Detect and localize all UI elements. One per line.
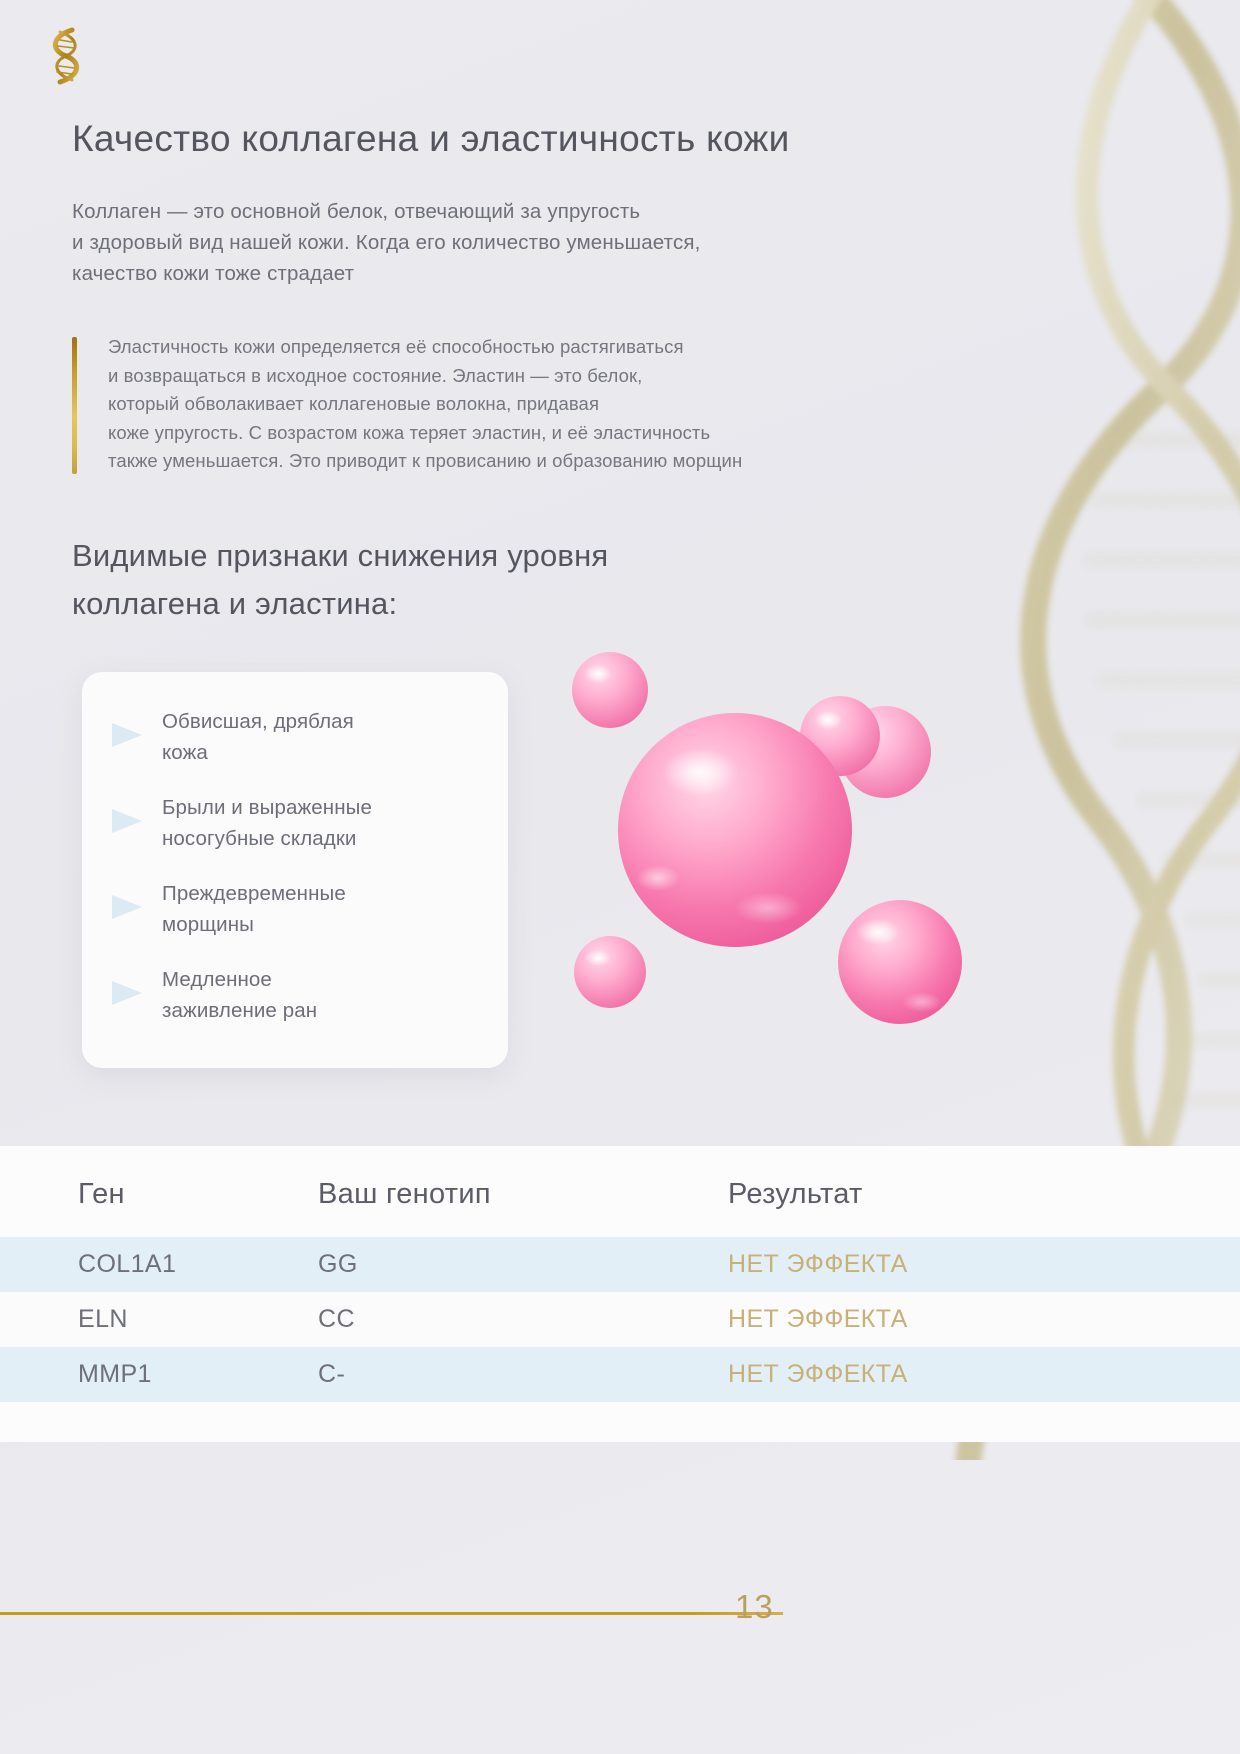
cell-gene: COL1A1 bbox=[0, 1237, 310, 1292]
cell-result: НЕТ ЭФФЕКТА bbox=[716, 1292, 1240, 1347]
section-heading: Видимые признаки снижения уровня коллаге… bbox=[72, 532, 892, 628]
sign-2-line-2: носогубные складки bbox=[162, 827, 356, 850]
cell-result: НЕТ ЭФФЕКТА bbox=[716, 1237, 1240, 1292]
callout-text: Эластичность кожи определяется её способ… bbox=[108, 333, 952, 476]
list-item-label: Преждевременные морщины bbox=[162, 878, 346, 940]
cell-gene: MMP1 bbox=[0, 1347, 310, 1402]
section-heading-line-1: Видимые признаки снижения уровня bbox=[72, 532, 892, 580]
cell-result: НЕТ ЭФФЕКТА bbox=[716, 1347, 1240, 1402]
visible-signs-card: Обвисшая, дряблая кожа Брыли и выраженны… bbox=[82, 672, 508, 1068]
list-item-label: Медленное заживление ран bbox=[162, 964, 317, 1026]
sign-3-line-2: морщины bbox=[162, 913, 254, 936]
list-item: Брыли и выраженные носогубные складки bbox=[108, 792, 482, 854]
genotype-results-section: Ген Ваш генотип Результат COL1A1 GG НЕТ … bbox=[0, 1146, 1240, 1442]
cell-genotype: C- bbox=[310, 1347, 716, 1402]
genotype-results-table: Ген Ваш генотип Результат COL1A1 GG НЕТ … bbox=[0, 1172, 1240, 1402]
elasticity-callout: Эластичность кожи определяется её способ… bbox=[72, 333, 952, 476]
sign-4-line-1: Медленное bbox=[162, 968, 272, 991]
sign-2-line-1: Брыли и выраженные bbox=[162, 796, 372, 819]
cell-genotype: CC bbox=[310, 1292, 716, 1347]
triangle-right-icon bbox=[108, 978, 146, 1008]
intro-line-1: Коллаген — это основной белок, отвечающи… bbox=[72, 196, 972, 227]
callout-line-5: также уменьшается. Это приводит к провис… bbox=[108, 447, 952, 476]
sign-4-line-2: заживление ран bbox=[162, 999, 317, 1022]
page-footer: 13 bbox=[0, 1478, 1240, 1754]
intro-line-3: качество кожи тоже страдает bbox=[72, 258, 972, 289]
sign-1-line-2: кожа bbox=[162, 741, 208, 764]
table-header-row: Ген Ваш генотип Результат bbox=[0, 1172, 1240, 1237]
intro-paragraph: Коллаген — это основной белок, отвечающи… bbox=[72, 196, 972, 289]
page-number: 13 bbox=[735, 1588, 774, 1626]
list-item: Медленное заживление ран bbox=[108, 964, 482, 1026]
list-item: Обвисшая, дряблая кожа bbox=[108, 706, 482, 768]
dna-helix-icon bbox=[36, 24, 96, 86]
table-row: MMP1 C- НЕТ ЭФФЕКТА bbox=[0, 1347, 1240, 1402]
report-page: Качество коллагена и эластичность кожи К… bbox=[0, 0, 1240, 1754]
callout-line-4: коже упругость. С возрастом кожа теряет … bbox=[108, 419, 952, 448]
callout-line-1: Эластичность кожи определяется её способ… bbox=[108, 333, 952, 362]
table-row: COL1A1 GG НЕТ ЭФФЕКТА bbox=[0, 1237, 1240, 1292]
page-title: Качество коллагена и эластичность кожи bbox=[72, 118, 972, 160]
column-header-gene: Ген bbox=[0, 1172, 310, 1237]
footer-divider bbox=[0, 1612, 783, 1615]
table-row: ELN CC НЕТ ЭФФЕКТА bbox=[0, 1292, 1240, 1347]
column-header-genotype: Ваш генотип bbox=[310, 1172, 716, 1237]
triangle-right-icon bbox=[108, 720, 146, 750]
callout-accent-bar bbox=[72, 337, 77, 474]
serum-bubbles-illustration bbox=[540, 640, 1060, 1110]
triangle-right-icon bbox=[108, 806, 146, 836]
cell-gene: ELN bbox=[0, 1292, 310, 1347]
column-header-result: Результат bbox=[716, 1172, 1240, 1237]
cell-genotype: GG bbox=[310, 1237, 716, 1292]
intro-line-2: и здоровый вид нашей кожи. Когда его кол… bbox=[72, 227, 972, 258]
callout-line-2: и возвращаться в исходное состояние. Эла… bbox=[108, 362, 952, 391]
list-item-label: Обвисшая, дряблая кожа bbox=[162, 706, 354, 768]
sign-1-line-1: Обвисшая, дряблая bbox=[162, 710, 354, 733]
section-heading-line-2: коллагена и эластина: bbox=[72, 580, 892, 628]
callout-line-3: который обволакивает коллагеновые волокн… bbox=[108, 390, 952, 419]
sign-3-line-1: Преждевременные bbox=[162, 882, 346, 905]
triangle-right-icon bbox=[108, 892, 146, 922]
list-item-label: Брыли и выраженные носогубные складки bbox=[162, 792, 372, 854]
list-item: Преждевременные морщины bbox=[108, 878, 482, 940]
